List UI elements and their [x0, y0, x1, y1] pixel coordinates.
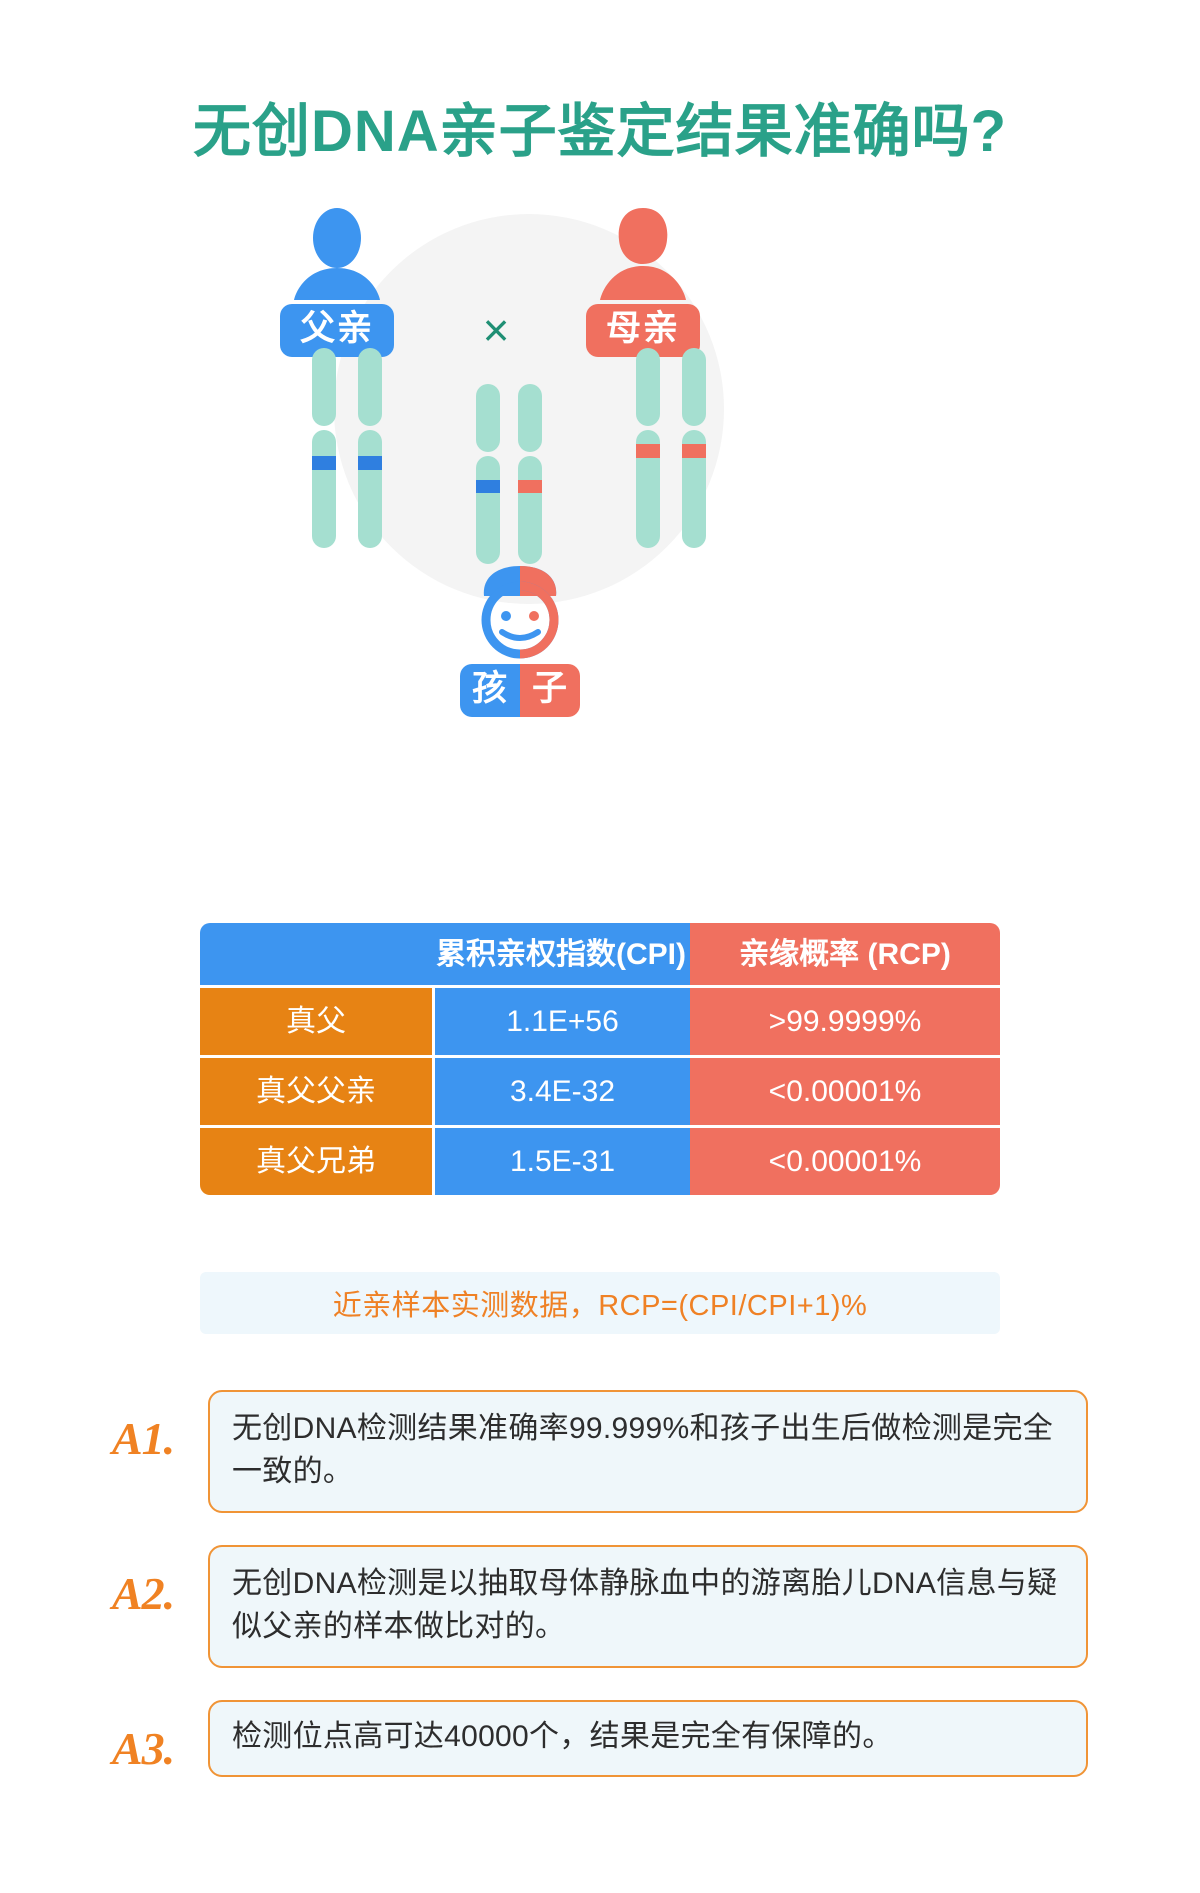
- header-cpi: 累积亲权指数(CPI): [432, 923, 690, 985]
- table-row: 真父父亲 3.4E-32 <0.00001%: [200, 1055, 1000, 1125]
- answer-item-3: A3. 检测位点高可达40000个，结果是完全有保障的。: [0, 1700, 1200, 1777]
- table-row: 真父 1.1E+56 >99.9999%: [200, 985, 1000, 1055]
- child-label: 孩子: [460, 664, 580, 717]
- chromosome-pair-svg: [462, 384, 562, 564]
- cell-relation: 真父父亲: [200, 1058, 432, 1125]
- mother-group: 母亲: [553, 206, 733, 357]
- infographic-page: 无创DNA亲子鉴定结果准确吗? 父亲 母亲 ×: [0, 0, 1200, 1893]
- chromosome-pair-svg: [298, 348, 398, 548]
- father-chromosome-pair: [298, 348, 398, 553]
- table-header-row: 累积亲权指数(CPI) 亲缘概率 (RCP): [200, 923, 1000, 985]
- child-label-part1: 孩: [460, 664, 520, 717]
- cell-rcp: <0.00001%: [690, 1128, 1000, 1195]
- cell-cpi: 1.1E+56: [432, 988, 690, 1055]
- table-note: 近亲样本实测数据，RCP=(CPI/CPI+1)%: [200, 1272, 1000, 1334]
- father-group: 父亲: [247, 206, 427, 357]
- page-title: 无创DNA亲子鉴定结果准确吗?: [0, 84, 1200, 168]
- chromosome-pair-svg: [622, 348, 722, 548]
- cross-icon: ×: [466, 300, 526, 360]
- answer-text: 无创DNA检测结果准确率99.999%和孩子出生后做检测是完全一致的。: [208, 1390, 1088, 1513]
- cell-relation: 真父兄弟: [200, 1128, 432, 1195]
- header-blank: [200, 923, 432, 985]
- child-label-part2: 子: [520, 664, 580, 717]
- answer-tag: A1.: [112, 1412, 202, 1465]
- cpi-rcp-table: 累积亲权指数(CPI) 亲缘概率 (RCP) 真父 1.1E+56 >99.99…: [200, 923, 1000, 1195]
- child-chromosome-pair: [462, 384, 562, 569]
- table-row: 真父兄弟 1.5E-31 <0.00001%: [200, 1125, 1000, 1195]
- cell-rcp: <0.00001%: [690, 1058, 1000, 1125]
- answer-item-2: A2. 无创DNA检测是以抽取母体静脉血中的游离胎儿DNA信息与疑似父亲的样本做…: [0, 1545, 1200, 1668]
- cell-cpi: 1.5E-31: [432, 1128, 690, 1195]
- answer-tag: A3.: [112, 1722, 202, 1775]
- answer-tag: A2.: [112, 1567, 202, 1620]
- answers-section: A1. 无创DNA检测结果准确率99.999%和孩子出生后做检测是完全一致的。 …: [0, 1390, 1200, 1809]
- child-group: [460, 562, 580, 665]
- male-person-icon: [294, 206, 380, 300]
- cell-relation: 真父: [200, 988, 432, 1055]
- answer-item-1: A1. 无创DNA检测结果准确率99.999%和孩子出生后做检测是完全一致的。: [0, 1390, 1200, 1513]
- child-label-wrap: 孩子: [440, 660, 600, 717]
- cell-rcp: >99.9999%: [690, 988, 1000, 1055]
- family-diagram: 父亲 母亲 ×: [0, 200, 1200, 730]
- child-face-icon: [466, 562, 574, 660]
- female-person-icon: [600, 206, 686, 300]
- cell-cpi: 3.4E-32: [432, 1058, 690, 1125]
- answer-text: 无创DNA检测是以抽取母体静脉血中的游离胎儿DNA信息与疑似父亲的样本做比对的。: [208, 1545, 1088, 1668]
- mother-chromosome-pair: [622, 348, 722, 553]
- answer-text: 检测位点高可达40000个，结果是完全有保障的。: [208, 1700, 1088, 1777]
- header-rcp: 亲缘概率 (RCP): [690, 923, 1000, 985]
